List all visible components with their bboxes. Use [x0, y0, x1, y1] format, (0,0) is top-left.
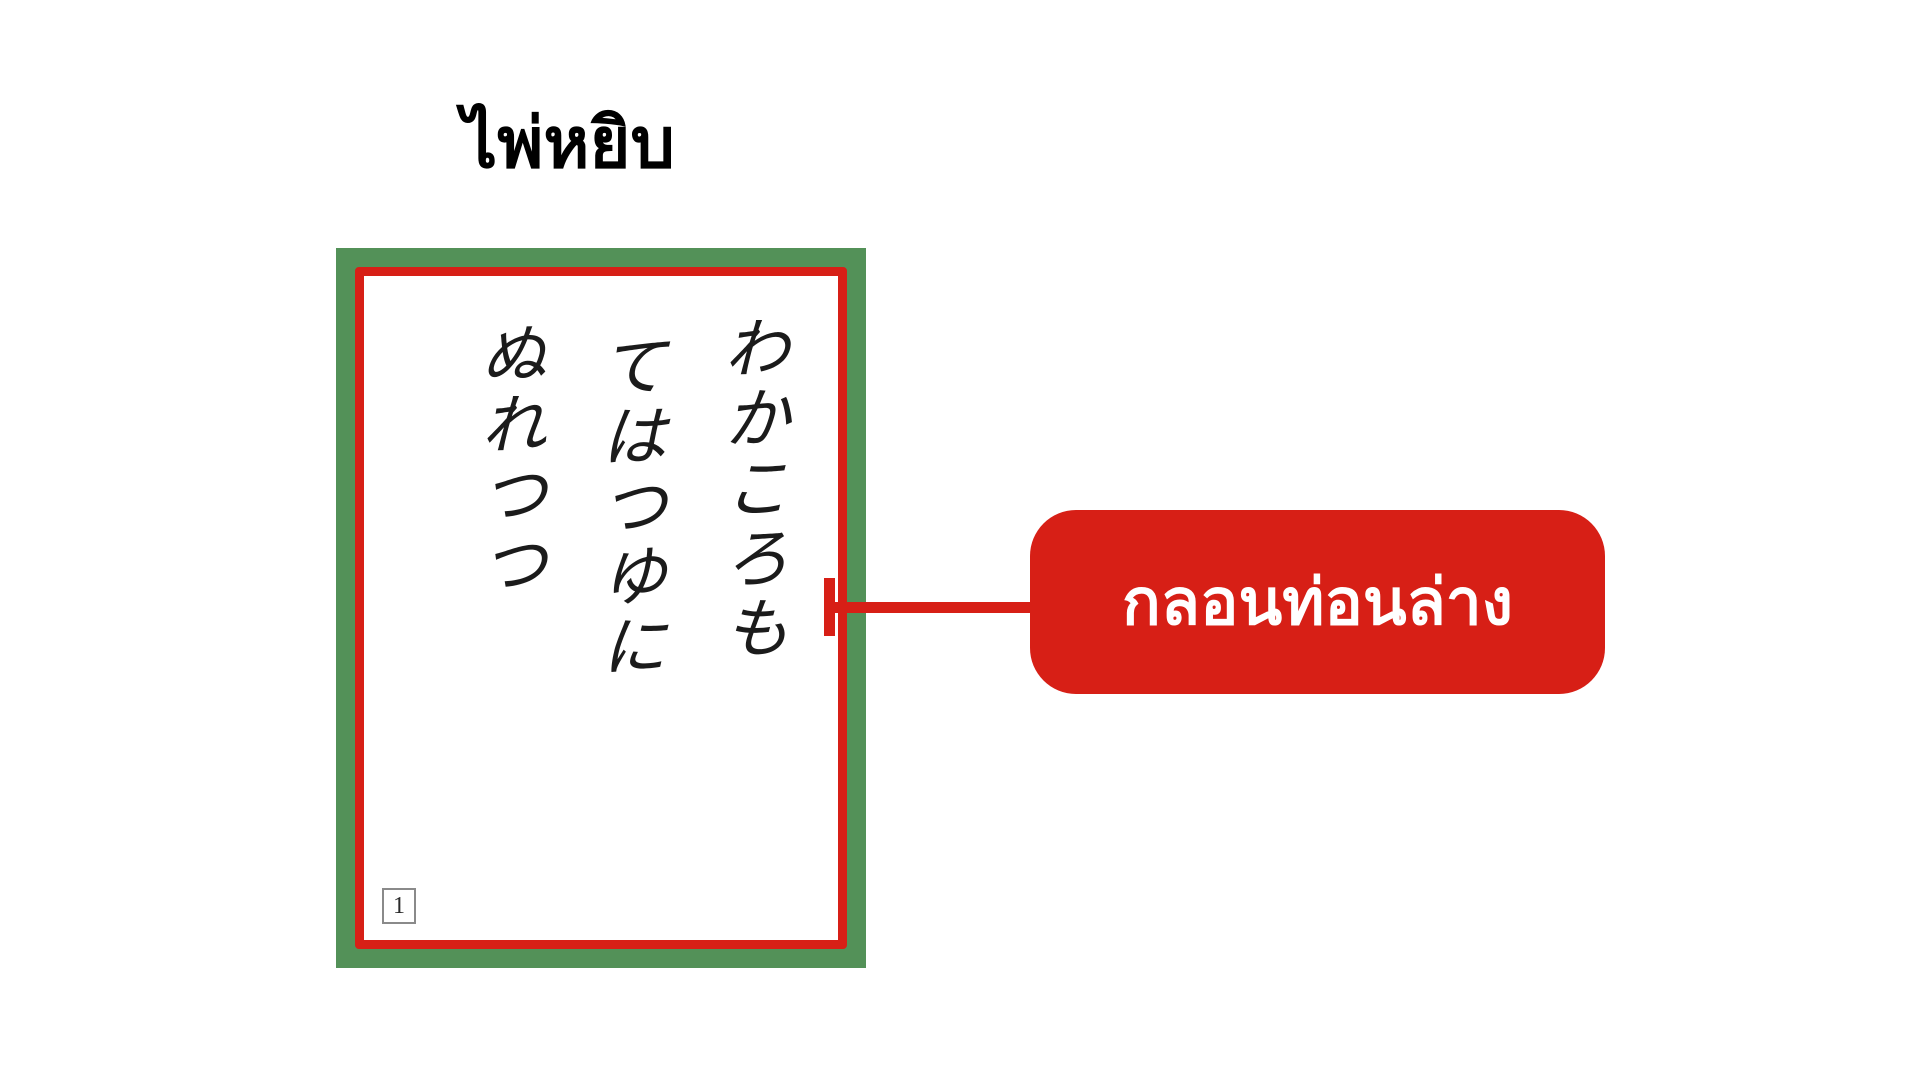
callout-lower-verse: กลอนท่อนล่าง [1030, 510, 1605, 694]
page-title: ไพ่หยิบ [462, 100, 675, 188]
karuta-card-paper: わかころも てはつゆに ぬれつつ 1 [355, 267, 847, 949]
poem-column-1: わかころも [704, 313, 798, 665]
karuta-card: わかころも てはつゆに ぬれつつ 1 [336, 248, 866, 968]
callout-label: กลอนท่อนล่าง [1122, 570, 1513, 634]
card-number-badge: 1 [382, 888, 416, 924]
poem-text-block: わかころも てはつゆに ぬれつつ [386, 314, 816, 880]
poem-column-2: てはつゆに [581, 313, 675, 683]
connector-line [828, 602, 1054, 613]
poem-column-3: ぬれつつ [461, 313, 555, 601]
